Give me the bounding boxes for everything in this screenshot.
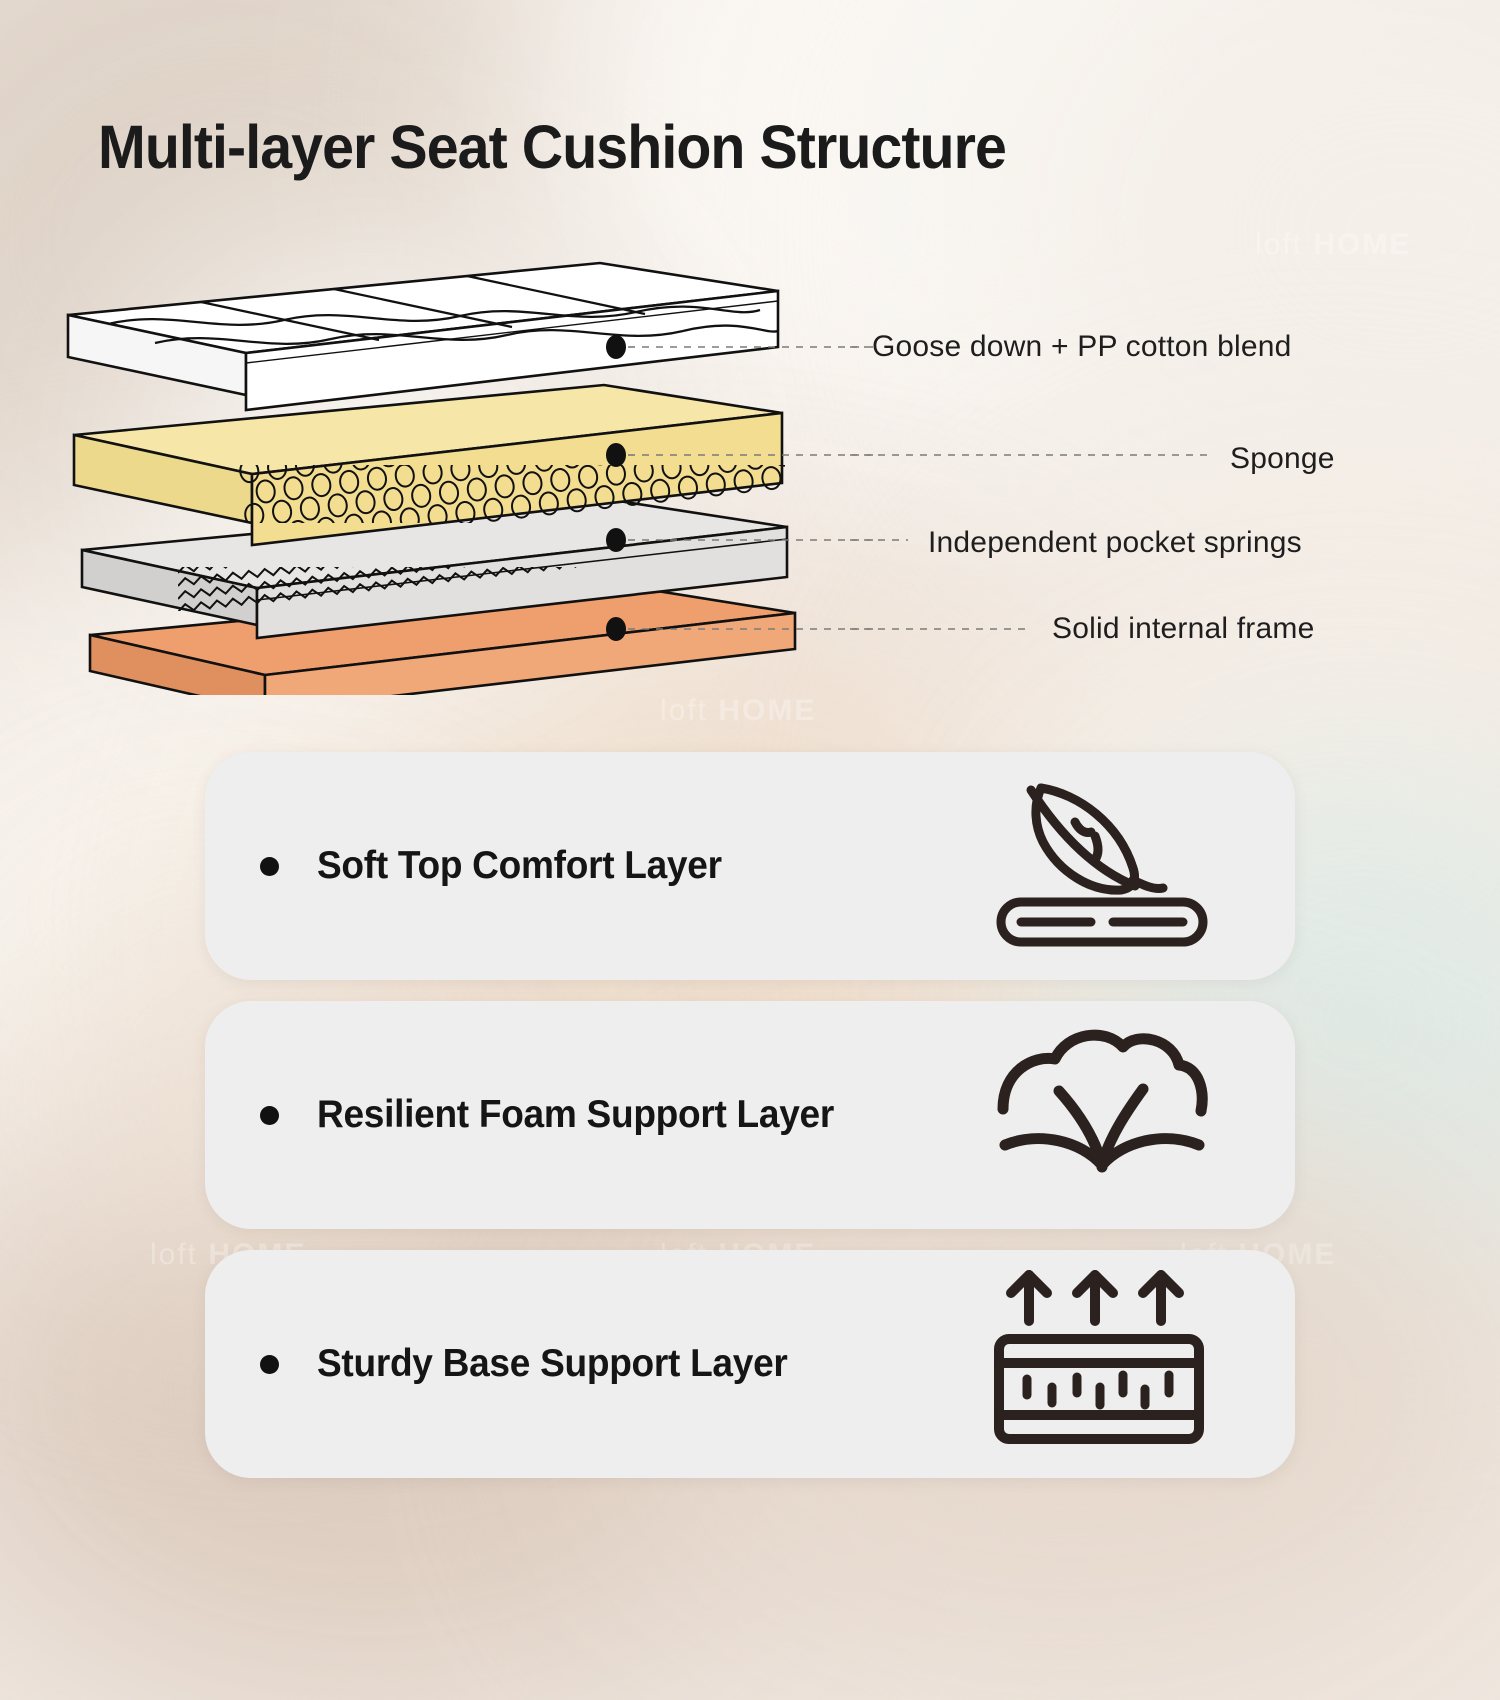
callout-label-springs: Independent pocket springs xyxy=(928,526,1302,560)
marker-frame xyxy=(606,617,626,641)
feature-card-resilient-foam[interactable]: Resilient Foam Support Layer xyxy=(205,1001,1295,1229)
callout-label-sponge: Sponge xyxy=(1230,442,1335,476)
feature-card-sturdy-base[interactable]: Sturdy Base Support Layer xyxy=(205,1250,1295,1478)
bullet-icon xyxy=(260,1355,279,1374)
page-title: Multi-layer Seat Cushion Structure xyxy=(98,112,1006,182)
cushion-layers-diagram xyxy=(60,255,880,695)
marker-sponge xyxy=(606,443,626,467)
callout-label-frame: Solid internal frame xyxy=(1052,612,1314,646)
feature-label: Resilient Foam Support Layer xyxy=(317,1093,834,1137)
marker-top-layer xyxy=(606,335,626,359)
bullet-icon xyxy=(260,857,279,876)
feature-label: Soft Top Comfort Layer xyxy=(317,844,722,888)
feature-label: Sturdy Base Support Layer xyxy=(317,1342,788,1386)
feature-card-soft-top[interactable]: Soft Top Comfort Layer xyxy=(205,752,1295,980)
bullet-icon xyxy=(260,1106,279,1125)
mattress-up-arrows-icon xyxy=(987,1269,1217,1459)
feather-on-cushion-icon xyxy=(987,776,1217,956)
marker-springs xyxy=(606,528,626,552)
layer-quilted-top xyxy=(68,263,778,410)
callout-label-top-layer: Goose down + PP cotton blend xyxy=(872,330,1292,364)
cotton-puff-icon xyxy=(987,1025,1217,1205)
